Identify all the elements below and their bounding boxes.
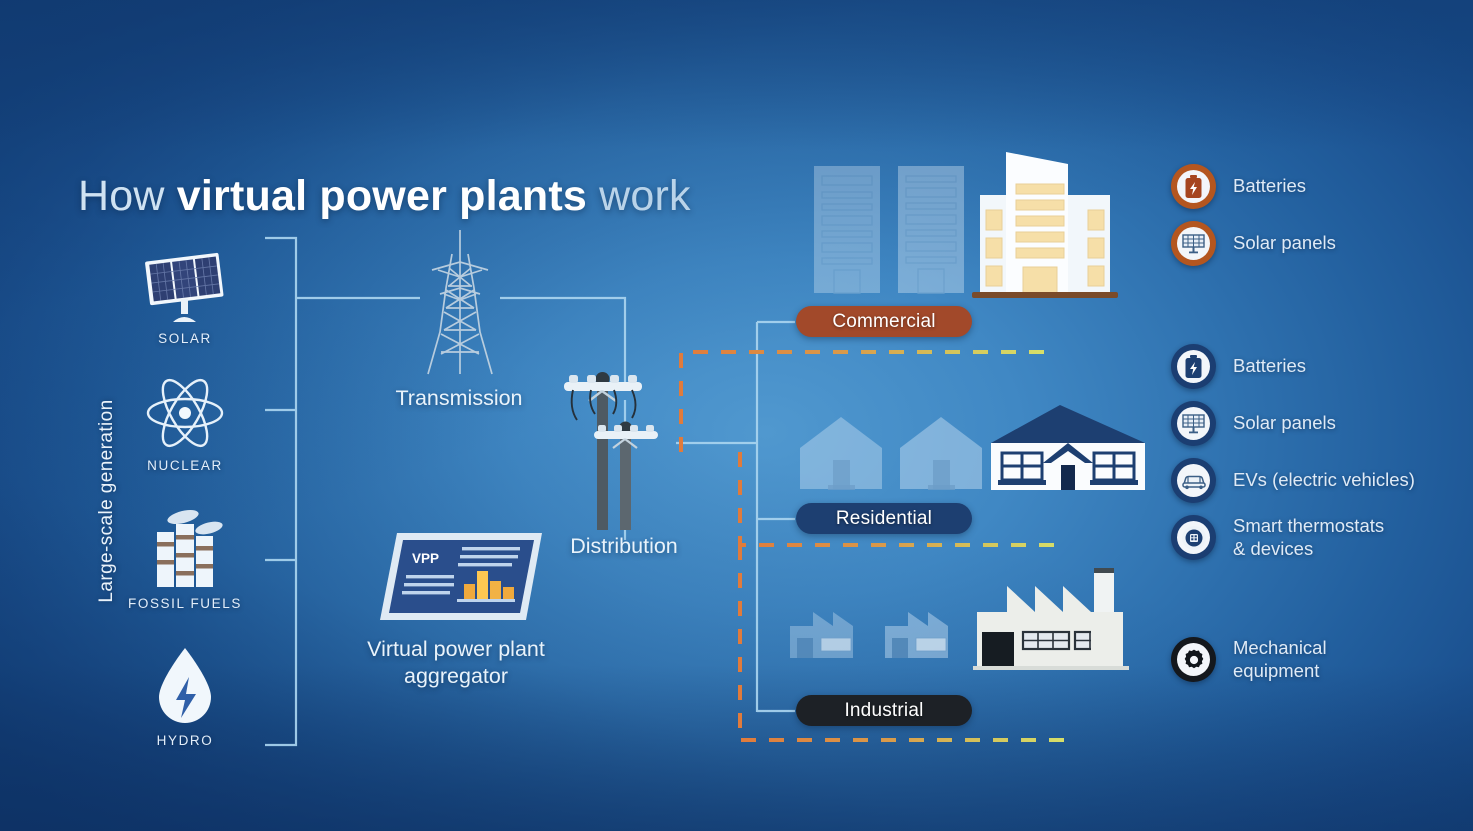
legend-item-mechanical-equipment[interactable]: Mechanical equipment <box>1171 637 1327 682</box>
gear-icon <box>1171 637 1216 682</box>
smokestacks-icon <box>110 508 260 590</box>
car-icon <box>1171 458 1216 503</box>
transmission-tower-icon <box>412 228 508 381</box>
segment-pill-industrial[interactable]: Industrial <box>796 695 972 726</box>
generation-label-hydro: HYDRO <box>110 733 260 748</box>
battery-icon <box>1171 164 1216 209</box>
segment-label-industrial: Industrial <box>844 700 923 722</box>
residential-houses-art <box>795 403 1150 500</box>
thermostat-icon <box>1171 515 1216 560</box>
legend-group-industrial-assets: Mechanical equipment <box>1171 637 1327 682</box>
legend-label-smart-thermostats: Smart thermostats & devices <box>1233 515 1384 560</box>
legend-item-smart-thermostats[interactable]: Smart thermostats & devices <box>1171 515 1415 560</box>
legend-item-evs[interactable]: EVs (electric vehicles) <box>1171 458 1415 503</box>
solar-panel-icon <box>1171 401 1216 446</box>
water-drop-bolt-icon <box>110 645 260 727</box>
segment-label-residential: Residential <box>836 508 932 530</box>
legend-label-mechanical-equipment: Mechanical equipment <box>1233 637 1327 682</box>
aggregator-label: Virtual power plant aggregator <box>360 636 552 690</box>
legend-item-solar-panels-residential[interactable]: Solar panels <box>1171 401 1415 446</box>
distribution-label: Distribution <box>538 533 710 560</box>
battery-icon <box>1171 344 1216 389</box>
legend-label-solar-panels-commercial: Solar panels <box>1233 232 1336 255</box>
segment-pill-residential[interactable]: Residential <box>796 503 972 534</box>
legend-label-batteries-residential: Batteries <box>1233 355 1306 378</box>
legend-item-solar-panels-commercial[interactable]: Solar panels <box>1171 221 1336 266</box>
vpp-screen-title: VPP <box>412 551 439 566</box>
distribution-poles-icon <box>556 365 680 535</box>
legend-label-batteries-commercial: Batteries <box>1233 175 1306 198</box>
generation-source-nuclear: NUCLEAR <box>110 370 260 473</box>
commercial-buildings-art <box>810 150 1125 310</box>
page-title: How virtual power plants work <box>78 172 691 221</box>
segment-pill-commercial[interactable]: Commercial <box>796 306 972 337</box>
legend-group-commercial-assets: Batteries Solar panels <box>1171 164 1336 266</box>
infographic-canvas: How virtual power plants work Large-scal… <box>0 0 1473 831</box>
generation-source-hydro: HYDRO <box>110 645 260 748</box>
generation-label-fossil-fuels: FOSSIL FUELS <box>110 596 260 611</box>
title-emphasis: virtual power plants <box>177 172 587 220</box>
segment-label-commercial: Commercial <box>832 311 935 333</box>
transmission-label: Transmission <box>370 385 548 412</box>
legend-item-batteries-residential[interactable]: Batteries <box>1171 344 1415 389</box>
generation-source-solar: SOLAR <box>110 243 260 346</box>
legend-label-solar-panels-residential: Solar panels <box>1233 412 1336 435</box>
generation-label-nuclear: NUCLEAR <box>110 458 260 473</box>
solar-panel-icon <box>110 243 260 325</box>
generation-source-fossil-fuels: FOSSIL FUELS <box>110 508 260 611</box>
atom-icon <box>110 370 260 452</box>
legend-item-batteries-commercial[interactable]: Batteries <box>1171 164 1336 209</box>
title-prefix: How <box>78 172 177 220</box>
vpp-aggregator-tablet-icon: VPP <box>366 527 546 630</box>
generation-label-solar: SOLAR <box>110 331 260 346</box>
industrial-factories-art <box>785 560 1150 695</box>
title-suffix: work <box>587 172 691 220</box>
legend-label-evs: EVs (electric vehicles) <box>1233 469 1415 492</box>
solar-panel-icon <box>1171 221 1216 266</box>
legend-group-residential-assets: Batteries Solar panels <box>1171 344 1415 560</box>
